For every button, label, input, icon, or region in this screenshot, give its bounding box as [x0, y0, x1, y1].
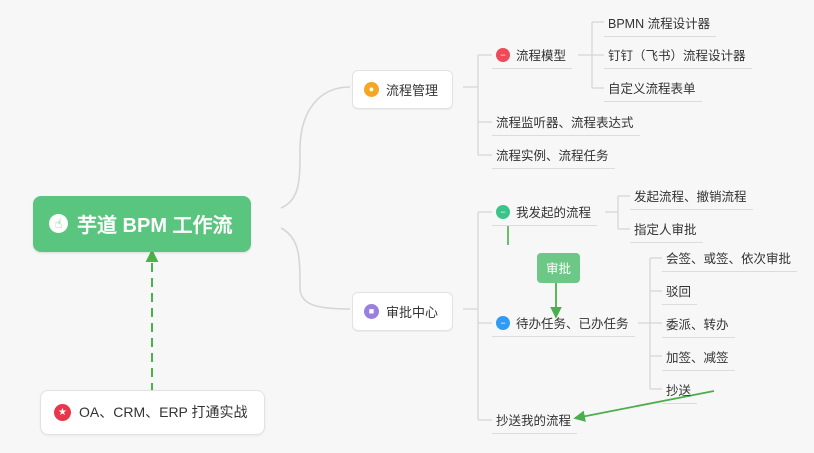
- node-reject[interactable]: 驳回: [662, 278, 697, 305]
- node-label: 流程监听器、流程表达式: [496, 112, 634, 131]
- mindmap-canvas: ☝ 芋道 BPM 工作流 ● 流程管理 − 流程模型 BPMN 流程设计器 钉钉…: [0, 0, 814, 453]
- node-assign-approver[interactable]: 指定人审批: [630, 216, 703, 243]
- node-approval-tag[interactable]: 审批: [537, 253, 580, 283]
- node-label: 待办任务、已办任务: [516, 313, 629, 332]
- star-circle-icon: ★: [54, 404, 71, 421]
- node-custom-process-form[interactable]: 自定义流程表单: [604, 75, 702, 102]
- note-icon: ■: [364, 304, 379, 319]
- node-label: 会签、或签、依次审批: [666, 248, 791, 267]
- thumbs-up-icon: ☝: [49, 214, 68, 233]
- node-countersign[interactable]: 会签、或签、依次审批: [662, 245, 797, 272]
- root-node-label: 芋道 BPM 工作流: [77, 209, 233, 238]
- branch-node-process-management[interactable]: ● 流程管理: [352, 70, 453, 109]
- root-node[interactable]: ☝ 芋道 BPM 工作流: [33, 196, 251, 252]
- node-label: 加签、减签: [666, 347, 729, 366]
- node-process-model[interactable]: − 流程模型: [492, 42, 572, 69]
- node-start-cancel-process[interactable]: 发起流程、撤销流程: [630, 183, 753, 210]
- node-label: 抄送: [666, 380, 691, 399]
- branch-node-approval-center[interactable]: ■ 审批中心: [352, 292, 453, 331]
- node-label: 钉钉（飞书）流程设计器: [608, 45, 746, 64]
- node-label: BPMN 流程设计器: [608, 13, 710, 32]
- node-label: 流程实例、流程任务: [496, 145, 609, 164]
- node-label: 流程模型: [516, 45, 566, 64]
- node-label: 审批: [546, 262, 571, 276]
- minus-circle-icon: −: [496, 48, 510, 62]
- bottom-card-label: OA、CRM、ERP 打通实战: [79, 402, 248, 422]
- node-cc[interactable]: 抄送: [662, 377, 697, 404]
- node-bpmn-designer[interactable]: BPMN 流程设计器: [604, 10, 716, 37]
- node-listener-expression[interactable]: 流程监听器、流程表达式: [492, 109, 640, 136]
- node-dingtalk-feishu-designer[interactable]: 钉钉（飞书）流程设计器: [604, 42, 752, 69]
- node-instance-task[interactable]: 流程实例、流程任务: [492, 142, 615, 169]
- node-label: 自定义流程表单: [608, 78, 696, 97]
- node-label: 发起流程、撤销流程: [634, 186, 747, 205]
- bottom-card-integration[interactable]: ★ OA、CRM、ERP 打通实战: [40, 390, 265, 435]
- node-label: 委派、转办: [666, 314, 729, 333]
- branch-label: 审批中心: [386, 302, 438, 321]
- node-add-remove-sign[interactable]: 加签、减签: [662, 344, 735, 371]
- node-my-initiated-process[interactable]: − 我发起的流程: [492, 199, 597, 226]
- node-label: 抄送我的流程: [496, 410, 571, 429]
- node-delegate-transfer[interactable]: 委派、转办: [662, 311, 735, 338]
- minus-circle-icon: −: [496, 316, 510, 330]
- node-label: 驳回: [666, 281, 691, 300]
- branch-label: 流程管理: [386, 80, 438, 99]
- node-cc-my-process[interactable]: 抄送我的流程: [492, 407, 577, 434]
- node-label: 我发起的流程: [516, 202, 591, 221]
- location-pin-icon: ●: [364, 82, 379, 97]
- minus-circle-icon: −: [496, 205, 510, 219]
- node-todo-done-tasks[interactable]: − 待办任务、已办任务: [492, 310, 635, 337]
- node-label: 指定人审批: [634, 219, 697, 238]
